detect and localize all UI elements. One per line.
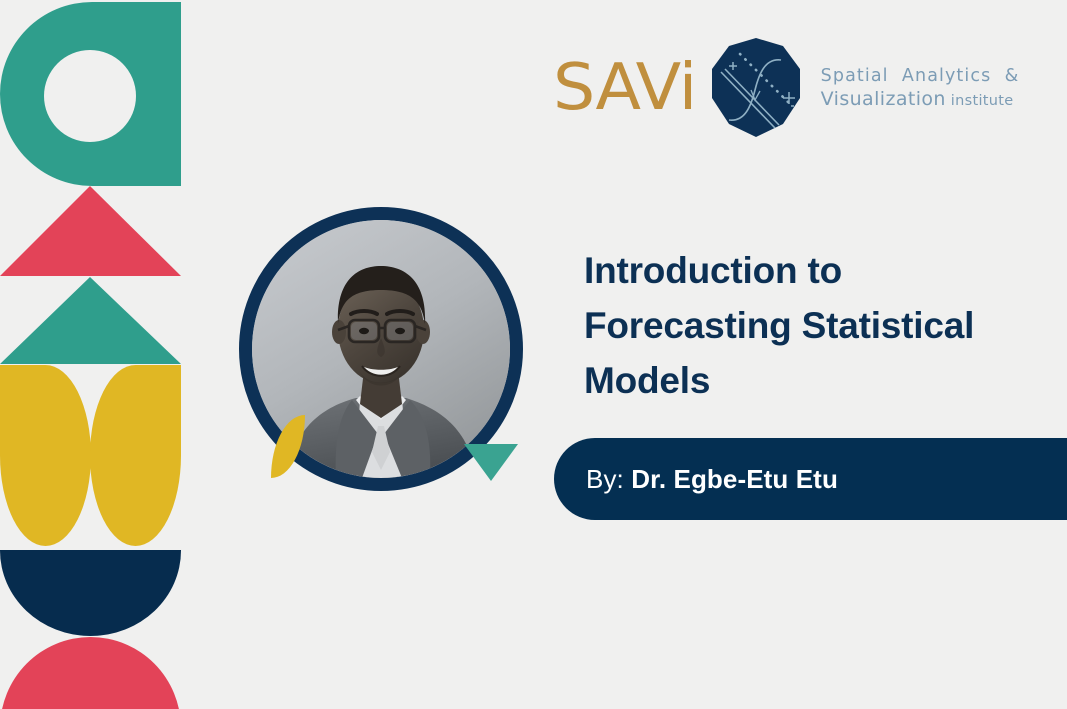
author-prefix: By: — [586, 464, 631, 494]
author-banner: By: Dr. Egbe-Etu Etu — [554, 438, 1067, 520]
tagline-institute-word: institute — [946, 93, 1014, 109]
tagline-line-2: Visualization institute — [821, 87, 1020, 111]
yellow-petal-right — [90, 365, 181, 546]
savi-wordmark: SAVi — [553, 56, 696, 120]
teal-accent-triangle-icon — [464, 444, 518, 481]
author-text: By: Dr. Egbe-Etu Etu — [586, 464, 838, 495]
teal-a-shape — [0, 2, 181, 186]
author-name: Dr. Egbe-Etu Etu — [631, 464, 838, 494]
savi-tagline: Spatial Analytics & Visualization instit… — [821, 65, 1020, 112]
yellow-petal-left — [0, 365, 91, 546]
yellow-petals — [0, 365, 181, 546]
red-half-circle — [0, 637, 181, 709]
page-title: Introduction to Forecasting Statistical … — [584, 244, 1054, 408]
teal-triangle — [0, 277, 181, 364]
speaker-portrait — [236, 201, 536, 523]
savi-logo-lockup: SAVi — [553, 38, 1019, 138]
decorative-shape-column — [0, 0, 181, 709]
teal-a-shape-hole — [44, 50, 136, 142]
navy-half-circle — [0, 550, 181, 636]
tagline-line-2-main: Visualization — [821, 88, 946, 110]
title-block: Introduction to Forecasting Statistical … — [584, 244, 1054, 408]
savi-octagon-analytics-mark-icon — [707, 36, 805, 140]
tagline-line-1: Spatial Analytics & — [821, 65, 1020, 87]
red-triangle — [0, 186, 181, 276]
presentation-title-slide: SAVi — [0, 0, 1067, 709]
